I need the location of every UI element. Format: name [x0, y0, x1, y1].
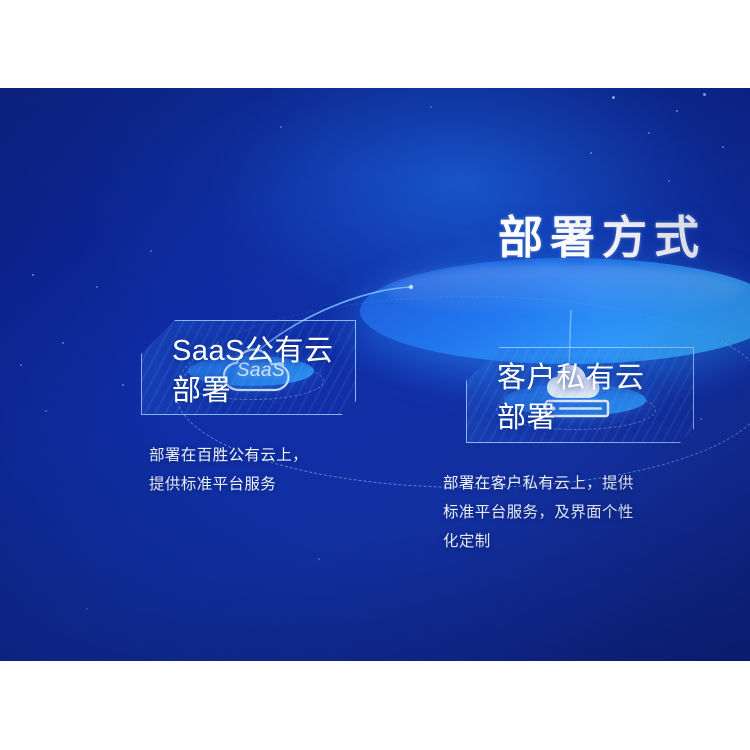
star-particle [668, 180, 670, 182]
card-title-customer-private-cloud: 客户私有云 部署 [497, 358, 697, 438]
star-particle [96, 286, 98, 288]
star-particle [703, 93, 706, 96]
star-particle [150, 250, 152, 252]
description-saas-public-cloud: 部署在百胜公有云上， 提供标准平台服务 [149, 441, 379, 499]
star-particle [32, 274, 34, 276]
star-particle [280, 126, 282, 128]
star-particle [648, 132, 650, 134]
star-particle [86, 608, 88, 610]
star-particle [122, 384, 124, 386]
card-title-saas-public-cloud: SaaS公有云 部署 [172, 331, 362, 411]
page-title: 部署方式 [498, 201, 706, 266]
star-particle [590, 152, 592, 154]
description-customer-private-cloud: 部署在客户私有云上，提供 标准平台服务，及界面个性 化定制 [443, 469, 713, 556]
star-particle [676, 110, 678, 112]
star-particle [45, 410, 47, 412]
deployment-banner: SaaS SaaS公有云 部署 部署在百胜公有云上， 提供标准平台服务 客户私有… [0, 88, 750, 661]
star-particle [430, 106, 432, 108]
star-particle [318, 558, 320, 560]
star-particle [62, 342, 64, 344]
page-root: SaaS SaaS公有云 部署 部署在百胜公有云上， 提供标准平台服务 客户私有… [0, 0, 750, 750]
star-particle [722, 146, 724, 148]
star-particle [612, 96, 615, 99]
star-particle [20, 364, 22, 366]
